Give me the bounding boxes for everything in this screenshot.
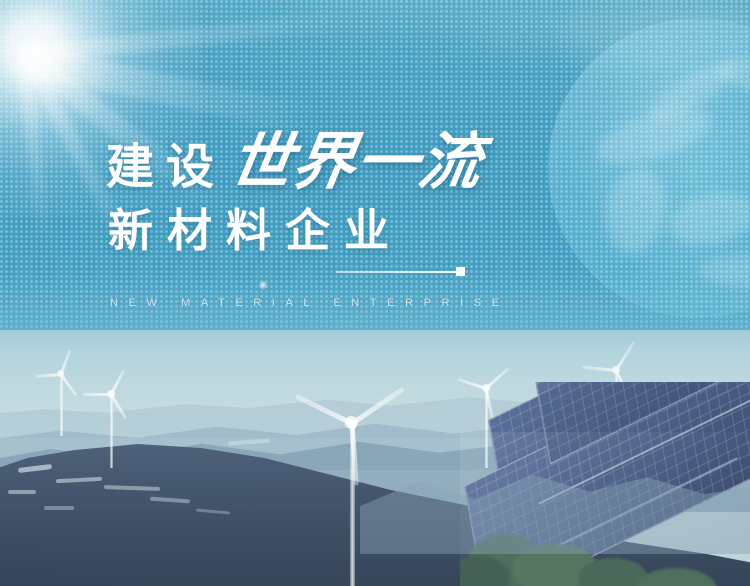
vignette-overlay <box>0 0 750 586</box>
hero-banner: 建设 世界一流 新材料企业 NEW MATERIAL ENTERPRISE <box>0 0 750 586</box>
